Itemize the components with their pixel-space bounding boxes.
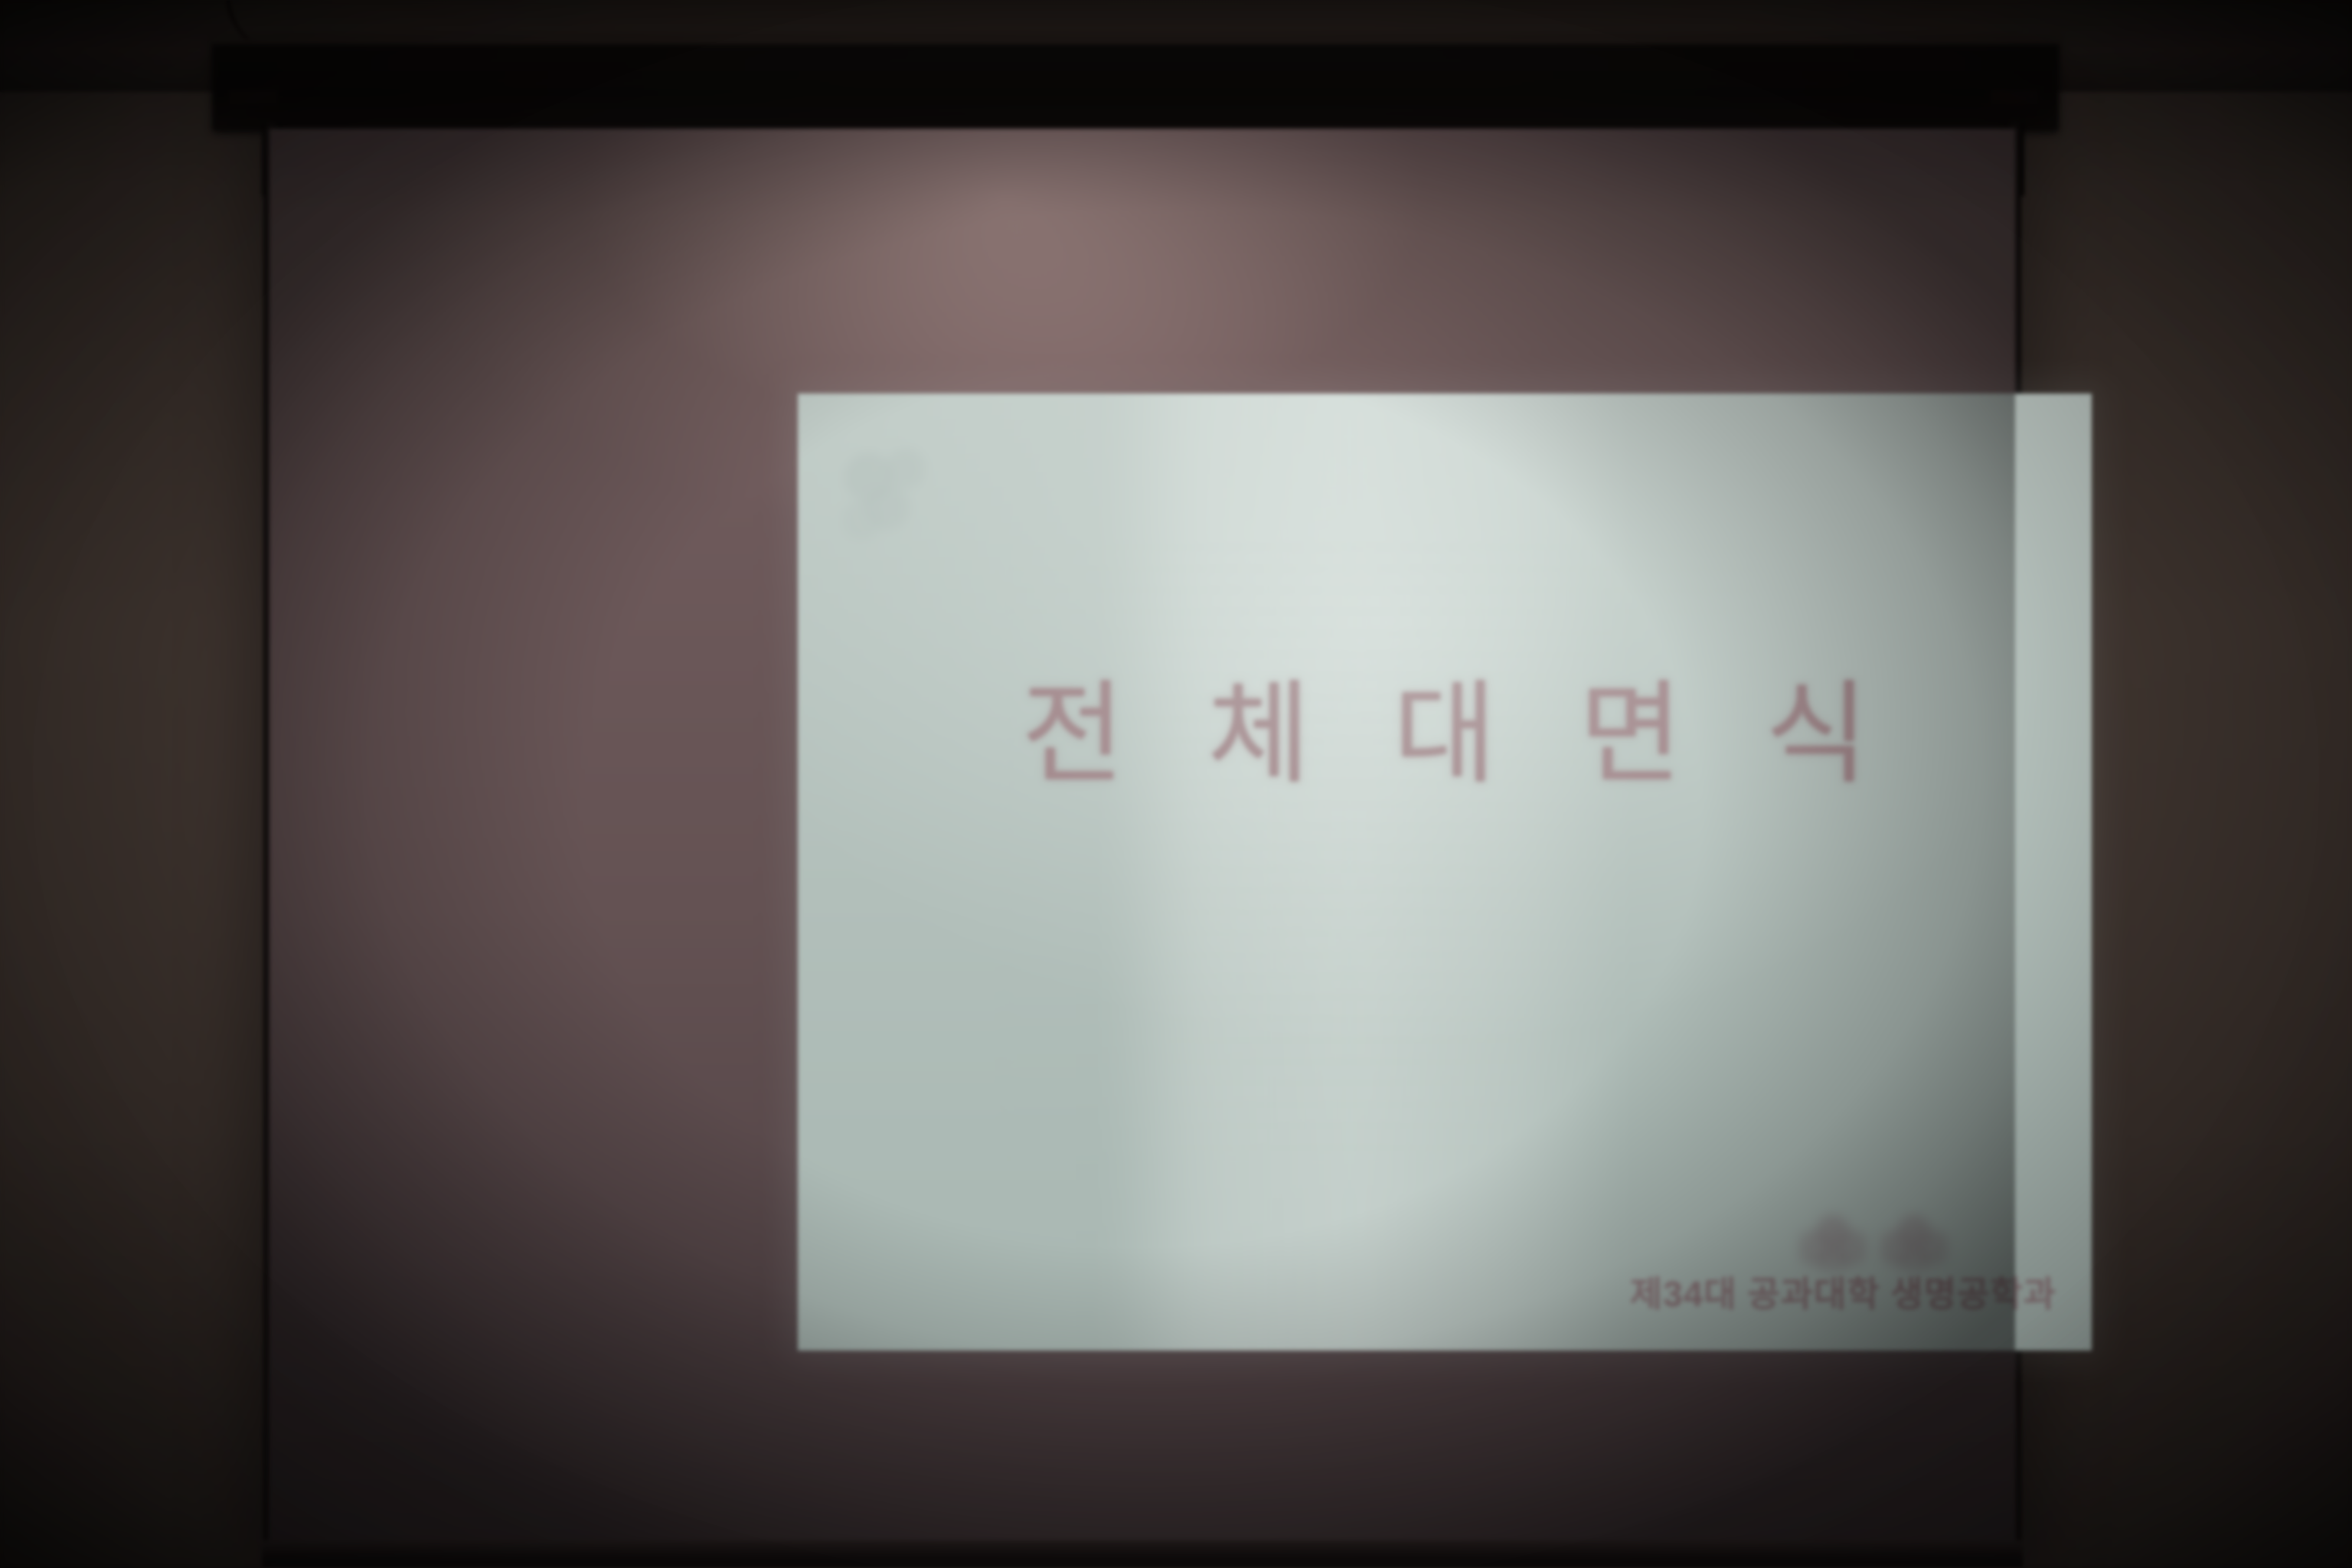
projected-slide: 전 체 대 면 식 제34대 공과대학 생명공학과: [798, 394, 2092, 1351]
footer-decorative-marks: [1521, 1212, 1955, 1272]
projector-room-scene: 전 체 대 면 식 제34대 공과대학 생명공학과: [0, 0, 2352, 1568]
slide-title: 전 체 대 면 식: [798, 678, 2092, 790]
projector-screen-valance: [213, 40, 2058, 130]
corner-floral-ornament-icon: [835, 441, 949, 548]
bracket-foot-left: [230, 90, 277, 104]
flower-mark-icon-1: [1799, 1215, 1867, 1272]
slide-footer: 제34대 공과대학 생명공학과: [1521, 1212, 2056, 1314]
valance-lip: [213, 40, 2058, 45]
screen-weight-bar: [262, 1540, 2023, 1566]
projection-screen-surface: 전 체 대 면 식 제34대 공과대학 생명공학과: [269, 129, 2015, 1543]
flower-mark-icon-2: [1880, 1215, 1948, 1272]
slide-watermark: [1109, 394, 1626, 1351]
screen-edge-left: [263, 129, 269, 1543]
department-line: 제34대 공과대학 생명공학과: [1521, 1275, 2056, 1314]
bracket-foot-right: [1991, 90, 2038, 104]
